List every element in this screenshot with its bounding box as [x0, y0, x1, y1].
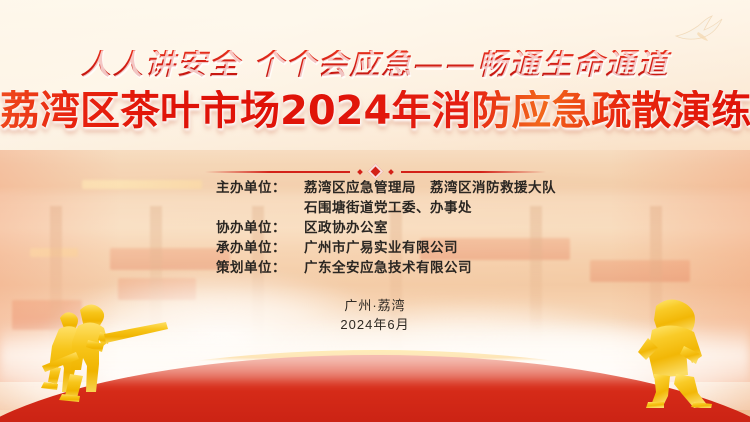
organizer-value: 广州市广易实业有限公司	[304, 238, 534, 258]
organizer-row: 策划单位： 广东全安应急技术有限公司	[0, 258, 750, 278]
page-title: 荔湾区茶叶市场2024年消防应急疏散演练	[0, 90, 750, 132]
place-text: 广州·荔湾	[0, 296, 750, 315]
organizer-value: 广东全安应急技术有限公司	[304, 258, 534, 278]
organizer-row: 承办单位： 广州市广易实业有限公司	[0, 238, 750, 258]
organizer-row: 协办单位： 区政协办公室	[0, 218, 750, 238]
headline-block: 人人讲安全 个个会应急——畅通生命通道 荔湾区茶叶市场2024年消防应急疏散演练	[0, 50, 750, 132]
date-text: 2024年6月	[0, 315, 750, 334]
slogan-text: 人人讲安全 个个会应急——畅通生命通道	[0, 50, 750, 80]
organizer-row: 主办单位： 荔湾区应急管理局 荔湾区消防救援大队	[0, 178, 750, 198]
organizer-label: 主办单位：	[216, 178, 304, 198]
organizer-label: 协办单位：	[216, 218, 304, 238]
organizer-value: 荔湾区应急管理局 荔湾区消防救援大队	[304, 178, 534, 198]
organizer-value: 石围塘街道党工委、办事处	[304, 198, 534, 218]
organizer-label: 策划单位：	[216, 258, 304, 278]
decorative-divider	[0, 166, 750, 177]
organizer-label: 承办单位：	[216, 238, 304, 258]
dove-icon	[672, 14, 726, 53]
organizer-row: 石围塘街道党工委、办事处	[0, 198, 750, 218]
divider-dot-icon	[388, 169, 394, 175]
divider-bar-left	[205, 171, 350, 173]
divider-bar-right	[401, 171, 546, 173]
diamond-ornament-icon	[367, 164, 383, 180]
place-and-date-block: 广州·荔湾 2024年6月	[0, 296, 750, 334]
divider-dot-icon	[357, 169, 363, 175]
organizer-value: 区政协办公室	[304, 218, 534, 238]
organizer-label	[216, 198, 304, 218]
organizer-list: 主办单位： 荔湾区应急管理局 荔湾区消防救援大队 石围塘街道党工委、办事处 协办…	[0, 178, 750, 278]
poster-canvas: 人人讲安全 个个会应急——畅通生命通道 荔湾区茶叶市场2024年消防应急疏散演练…	[0, 0, 750, 422]
